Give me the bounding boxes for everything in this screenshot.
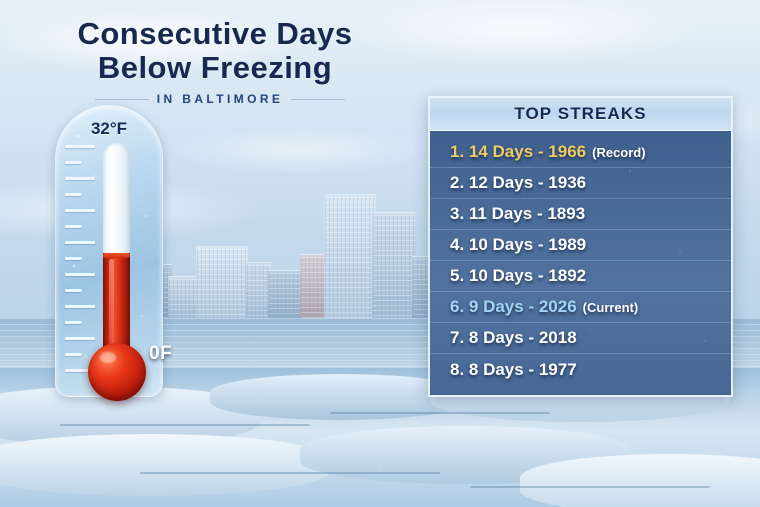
streak-text: 1. 14 Days - 1966 [450, 142, 586, 162]
panel-header: TOP STREAKS [430, 98, 731, 131]
streak-text: 5. 10 Days - 1892 [450, 266, 586, 286]
streak-row: 8. 8 Days - 1977 [430, 354, 731, 385]
streak-row: 1. 14 Days - 1966(Record) [430, 137, 731, 168]
streak-row: 4. 10 Days - 1989 [430, 230, 731, 261]
subtitle-rule-left [95, 99, 149, 100]
streak-text: 8. 8 Days - 1977 [450, 360, 577, 380]
subtitle-row: IN BALTIMORE [95, 92, 345, 106]
top-streaks-panel: TOP STREAKS 1. 14 Days - 1966(Record)2. … [428, 96, 733, 397]
streak-text: 4. 10 Days - 1989 [450, 235, 586, 255]
weather-graphic: Consecutive Days Below Freezing IN BALTI… [0, 0, 760, 507]
streak-list: 1. 14 Days - 1966(Record)2. 12 Days - 19… [430, 131, 731, 395]
streak-text: 3. 11 Days - 1893 [450, 204, 585, 224]
streak-row: 3. 11 Days - 1893 [430, 199, 731, 230]
streak-tag: (Record) [592, 145, 645, 160]
subtitle-rule-right [291, 99, 345, 100]
thermometer-scale-ticks [65, 145, 99, 375]
thermometer-bottom-label: 0F [149, 343, 172, 365]
streak-text: 6. 9 Days - 2026 [450, 297, 577, 317]
streak-text: 7. 8 Days - 2018 [450, 328, 577, 348]
subtitle-location: IN BALTIMORE [157, 92, 284, 106]
thermometer-bulb [88, 343, 146, 401]
title-line-1: Consecutive Days [0, 18, 430, 50]
streak-row: 5. 10 Days - 1892 [430, 261, 731, 292]
title-line-2: Below Freezing [0, 52, 430, 84]
panel-title: TOP STREAKS [514, 104, 646, 124]
title-block: Consecutive Days Below Freezing [0, 18, 430, 83]
streak-row: 6. 9 Days - 2026(Current) [430, 292, 731, 323]
streak-row: 2. 12 Days - 1936 [430, 168, 731, 199]
thermometer-graphic: 32°F 0F [45, 105, 175, 405]
streak-tag: (Current) [583, 300, 639, 315]
streak-text: 2. 12 Days - 1936 [450, 173, 586, 193]
streak-row: 7. 8 Days - 2018 [430, 323, 731, 354]
thermometer-top-label: 32°F [55, 119, 163, 139]
